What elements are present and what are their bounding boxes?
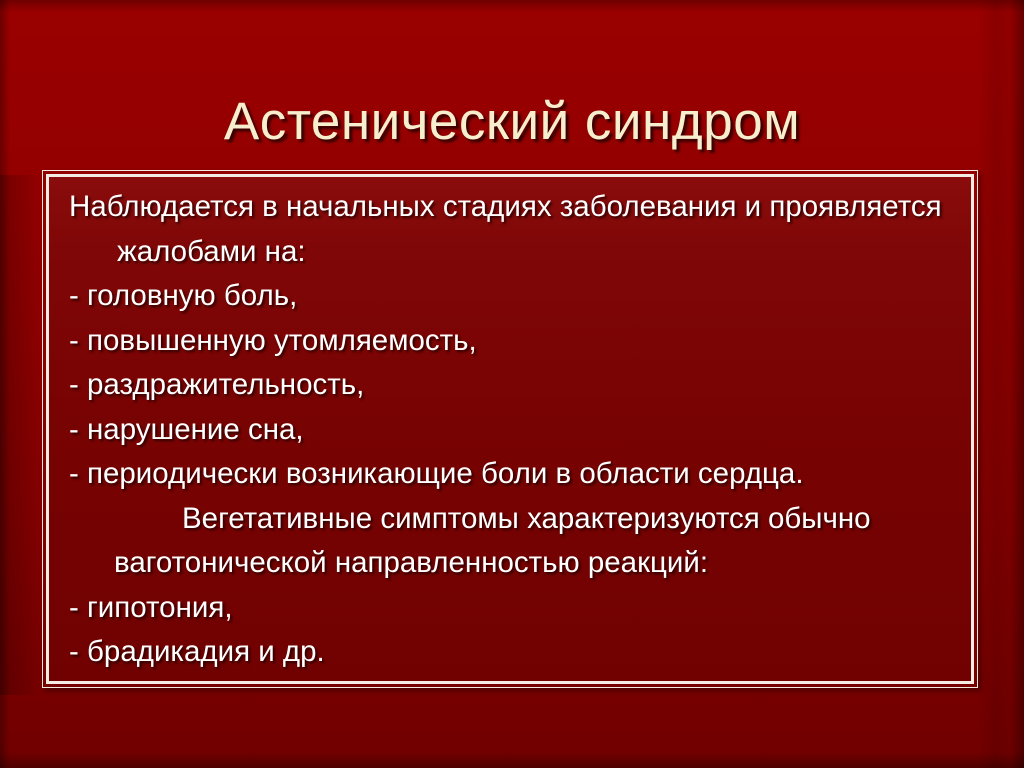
slide-title: Астенический синдром <box>0 92 1024 152</box>
list-item: - головную боль, <box>59 274 959 319</box>
presentation-slide: Астенический синдром Наблюдается в начал… <box>0 0 1024 768</box>
content-frame: Наблюдается в начальных стадиях заболева… <box>42 170 978 688</box>
list-item: - брадикадия и др. <box>59 630 959 675</box>
intro-paragraph: Наблюдается в начальных стадиях заболева… <box>59 185 959 274</box>
secondary-paragraph: Вегетативные симптомы характеризуются об… <box>59 497 959 586</box>
list-item: - раздражительность, <box>59 363 959 408</box>
left-shadow-band <box>0 175 40 695</box>
list-item: - повышенную утомляемость, <box>59 319 959 364</box>
content-frame-inner: Наблюдается в начальных стадиях заболева… <box>46 174 974 684</box>
list-item: - гипотония, <box>59 586 959 631</box>
content-body: Наблюдается в начальных стадиях заболева… <box>49 177 971 675</box>
list-item: - нарушение сна, <box>59 408 959 453</box>
list-item: - периодически возникающие боли в област… <box>59 452 959 497</box>
